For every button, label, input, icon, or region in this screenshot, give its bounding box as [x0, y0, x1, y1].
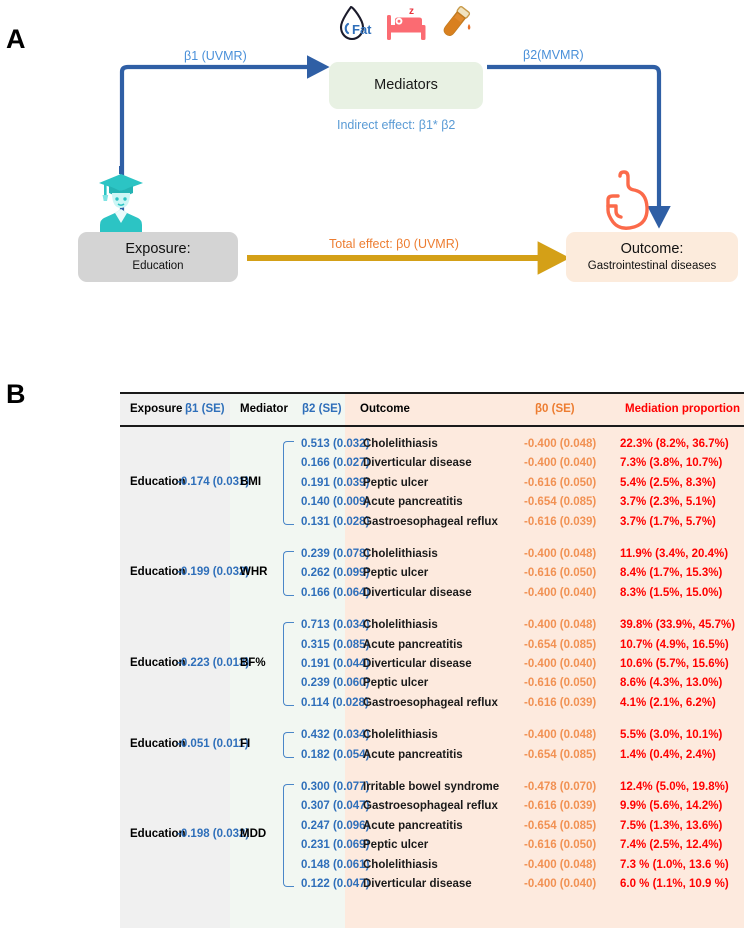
cell-proportion: 7.3% (3.8%, 10.7%): [620, 457, 722, 469]
cell-outcome: Acute pancreatitis: [363, 749, 463, 761]
panel-b-letter: B: [6, 379, 26, 410]
cell-beta2: 0.513 (0.032): [301, 438, 369, 450]
table-row: 0.432 (0.034)Cholelithiasis-0.400 (0.048…: [120, 726, 744, 745]
beta1-edge-label: β1 (UVMR): [184, 49, 247, 63]
cell-beta2: 0.239 (0.078): [301, 548, 369, 560]
cell-beta0: -0.400 (0.048): [524, 548, 596, 560]
cell-beta0: -0.654 (0.085): [524, 749, 596, 761]
table-row: 0.300 (0.077)Irritable bowel syndrome-0.…: [120, 778, 744, 797]
cell-beta2: 0.182 (0.054): [301, 749, 369, 761]
cell-beta2: 0.239 (0.060): [301, 677, 369, 689]
cell-beta0: -0.616 (0.039): [524, 697, 596, 709]
cell-beta0: -0.654 (0.085): [524, 639, 596, 651]
cell-outcome: Diverticular disease: [363, 457, 472, 469]
table-row: 0.191 (0.044)Diverticular disease-0.400 …: [120, 655, 744, 674]
exposure-title: Exposure:: [125, 240, 190, 258]
cell-proportion: 7.3 % (1.0%, 13.6 %): [620, 859, 729, 871]
cell-beta0: -0.654 (0.085): [524, 496, 596, 508]
cell-beta2: 0.122 (0.047): [301, 878, 369, 890]
indirect-effect-label: Indirect effect: β1* β2: [337, 118, 455, 132]
cell-proportion: 39.8% (33.9%, 45.7%): [620, 619, 735, 631]
header-outcome: Outcome: [360, 403, 410, 415]
cell-proportion: 8.6% (4.3%, 13.0%): [620, 677, 722, 689]
mediators-title: Mediators: [374, 76, 438, 94]
cell-beta2: 0.713 (0.034): [301, 619, 369, 631]
cell-outcome: Cholelithiasis: [363, 619, 438, 631]
exposure-node: Exposure: Education: [78, 232, 238, 282]
table-row: 0.247 (0.096)Acute pancreatitis-0.654 (0…: [120, 817, 744, 836]
cell-outcome: Diverticular disease: [363, 658, 472, 670]
cell-proportion: 3.7% (2.3%, 5.1%): [620, 496, 716, 508]
test-tube-icon: [433, 4, 477, 42]
cell-beta0: -0.478 (0.070): [524, 781, 596, 793]
cell-beta0: -0.400 (0.040): [524, 457, 596, 469]
sleep-z-label: z: [409, 6, 414, 17]
outcome-node: Outcome: Gastrointestinal diseases: [566, 232, 738, 282]
graduate-student-icon: [96, 166, 146, 236]
cell-beta2: 0.307 (0.047): [301, 800, 369, 812]
beta2-edge-label: β2(MVMR): [523, 48, 584, 62]
cell-beta2: 0.432 (0.034): [301, 729, 369, 741]
header-exposure: Exposure: [130, 403, 182, 415]
cell-proportion: 5.4% (2.5%, 8.3%): [620, 477, 716, 489]
cell-beta2: 0.262 (0.099): [301, 567, 369, 579]
mediation-diagram: Fat z: [0, 0, 744, 330]
cell-beta0: -0.400 (0.048): [524, 859, 596, 871]
cell-beta0: -0.400 (0.040): [524, 587, 596, 599]
cell-outcome: Cholelithiasis: [363, 438, 438, 450]
cell-outcome: Acute pancreatitis: [363, 639, 463, 651]
table-header-row: Exposure β1 (SE) Mediator β2 (SE) Outcom…: [120, 392, 744, 426]
mediators-node: Mediators: [329, 62, 483, 109]
cell-beta2: 0.300 (0.077): [301, 781, 369, 793]
cell-beta0: -0.616 (0.050): [524, 839, 596, 851]
mediation-results-table: Exposure β1 (SE) Mediator β2 (SE) Outcom…: [120, 392, 744, 928]
cell-beta0: -0.400 (0.040): [524, 658, 596, 670]
cell-proportion: 7.5% (1.3%, 13.6%): [620, 820, 722, 832]
table-row: 0.148 (0.061)Cholelithiasis-0.400 (0.048…: [120, 856, 744, 875]
cell-beta0: -0.654 (0.085): [524, 820, 596, 832]
mediator-group: Education-0.199 (0.032)WHR0.239 (0.078)C…: [120, 545, 744, 603]
table-row: 0.315 (0.085)Acute pancreatitis-0.654 (0…: [120, 636, 744, 655]
cell-outcome: Acute pancreatitis: [363, 820, 463, 832]
table-row: 0.140 (0.009)Acute pancreatitis-0.654 (0…: [120, 493, 744, 512]
cell-proportion: 10.6% (5.7%, 15.6%): [620, 658, 729, 670]
table-row: 0.239 (0.078)Cholelithiasis-0.400 (0.048…: [120, 545, 744, 564]
cell-proportion: 7.4% (2.5%, 12.4%): [620, 839, 722, 851]
cell-beta0: -0.616 (0.039): [524, 800, 596, 812]
table-row: 0.166 (0.027)Diverticular disease-0.400 …: [120, 454, 744, 473]
mediator-group: Education-0.051 (0.011)FI0.432 (0.034)Ch…: [120, 726, 744, 765]
cell-beta2: 0.315 (0.085): [301, 639, 369, 651]
mediator-group: Education-0.198 (0.032)MDD0.300 (0.077)I…: [120, 778, 744, 894]
table-row: 0.262 (0.099)Peptic ulcer-0.616 (0.050)8…: [120, 564, 744, 583]
cell-outcome: Gastroesophageal reflux: [363, 697, 498, 709]
total-effect-label: Total effect: β0 (UVMR): [329, 237, 459, 251]
table-row: 0.513 (0.032)Cholelithiasis-0.400 (0.048…: [120, 435, 744, 454]
cell-proportion: 8.3% (1.5%, 15.0%): [620, 587, 722, 599]
cell-beta0: -0.616 (0.050): [524, 677, 596, 689]
cell-beta2: 0.231 (0.069): [301, 839, 369, 851]
cell-beta2: 0.114 (0.028): [301, 697, 369, 709]
cell-proportion: 11.9% (3.4%, 20.4%): [620, 548, 728, 560]
cell-beta2: 0.140 (0.009): [301, 496, 369, 508]
mediator-group: Education-0.223 (0.013)BF%0.713 (0.034)C…: [120, 616, 744, 713]
cell-proportion: 5.5% (3.0%, 10.1%): [620, 729, 722, 741]
fat-label: Fat: [352, 22, 372, 37]
cell-proportion: 22.3% (8.2%, 36.7%): [620, 438, 729, 450]
cell-beta2: 0.191 (0.039): [301, 477, 369, 489]
cell-outcome: Cholelithiasis: [363, 548, 438, 560]
mediator-icons: Fat z: [329, 2, 485, 44]
cell-outcome: Acute pancreatitis: [363, 496, 463, 508]
cell-outcome: Peptic ulcer: [363, 477, 428, 489]
cell-beta2: 0.191 (0.044): [301, 658, 369, 670]
cell-beta0: -0.616 (0.039): [524, 516, 596, 528]
header-beta2: β2 (SE): [302, 403, 342, 415]
cell-proportion: 10.7% (4.9%, 16.5%): [620, 639, 729, 651]
table-row: 0.114 (0.028)Gastroesophageal reflux-0.6…: [120, 694, 744, 713]
fat-drop-icon: Fat: [334, 4, 382, 42]
cell-outcome: Gastroesophageal reflux: [363, 800, 498, 812]
table-row: 0.191 (0.039)Peptic ulcer-0.616 (0.050)5…: [120, 474, 744, 493]
cell-outcome: Diverticular disease: [363, 587, 472, 599]
cell-outcome: Gastroesophageal reflux: [363, 516, 498, 528]
cell-proportion: 9.9% (5.6%, 14.2%): [620, 800, 722, 812]
cell-outcome: Irritable bowel syndrome: [363, 781, 499, 793]
table-row: 0.122 (0.047)Diverticular disease-0.400 …: [120, 875, 744, 894]
outcome-title: Outcome:: [621, 240, 684, 258]
cell-outcome: Peptic ulcer: [363, 839, 428, 851]
cell-beta2: 0.148 (0.061): [301, 859, 369, 871]
table-row: 0.131 (0.028)Gastroesophageal reflux-0.6…: [120, 513, 744, 532]
cell-beta0: -0.400 (0.048): [524, 438, 596, 450]
cell-beta0: -0.400 (0.040): [524, 878, 596, 890]
cell-beta0: -0.616 (0.050): [524, 477, 596, 489]
table-row: 0.239 (0.060)Peptic ulcer-0.616 (0.050)8…: [120, 674, 744, 693]
mediator-group: Education-0.174 (0.031)BMI0.513 (0.032)C…: [120, 435, 744, 532]
header-mediation-proportion: Mediation proportion: [625, 403, 740, 415]
cell-beta2: 0.247 (0.096): [301, 820, 369, 832]
cell-beta2: 0.131 (0.028): [301, 516, 369, 528]
outcome-subtitle: Gastrointestinal diseases: [588, 259, 716, 273]
table-row: 0.231 (0.069)Peptic ulcer-0.616 (0.050)7…: [120, 836, 744, 855]
table-row: 0.307 (0.047)Gastroesophageal reflux-0.6…: [120, 797, 744, 816]
cell-proportion: 6.0 % (1.1%, 10.9 %): [620, 878, 729, 890]
cell-outcome: Cholelithiasis: [363, 859, 438, 871]
cell-beta2: 0.166 (0.064): [301, 587, 369, 599]
bed-sleep-icon: z: [383, 3, 431, 43]
table-row: 0.713 (0.034)Cholelithiasis-0.400 (0.048…: [120, 616, 744, 635]
cell-proportion: 4.1% (2.1%, 6.2%): [620, 697, 716, 709]
header-beta1: β1 (SE): [185, 403, 225, 415]
cell-proportion: 1.4% (0.4%, 2.4%): [620, 749, 716, 761]
cell-beta0: -0.400 (0.048): [524, 729, 596, 741]
table-row: 0.166 (0.064)Diverticular disease-0.400 …: [120, 584, 744, 603]
header-mediator: Mediator: [240, 403, 288, 415]
cell-proportion: 3.7% (1.7%, 5.7%): [620, 516, 716, 528]
exposure-subtitle: Education: [132, 259, 183, 273]
cell-beta0: -0.400 (0.048): [524, 619, 596, 631]
cell-proportion: 12.4% (5.0%, 19.8%): [620, 781, 729, 793]
cell-outcome: Diverticular disease: [363, 878, 472, 890]
header-beta0: β0 (SE): [535, 403, 575, 415]
stomach-icon: [600, 170, 654, 236]
cell-outcome: Peptic ulcer: [363, 677, 428, 689]
cell-beta0: -0.616 (0.050): [524, 567, 596, 579]
cell-outcome: Cholelithiasis: [363, 729, 438, 741]
table-row: 0.182 (0.054)Acute pancreatitis-0.654 (0…: [120, 746, 744, 765]
cell-beta2: 0.166 (0.027): [301, 457, 369, 469]
cell-proportion: 8.4% (1.7%, 15.3%): [620, 567, 722, 579]
cell-outcome: Peptic ulcer: [363, 567, 428, 579]
